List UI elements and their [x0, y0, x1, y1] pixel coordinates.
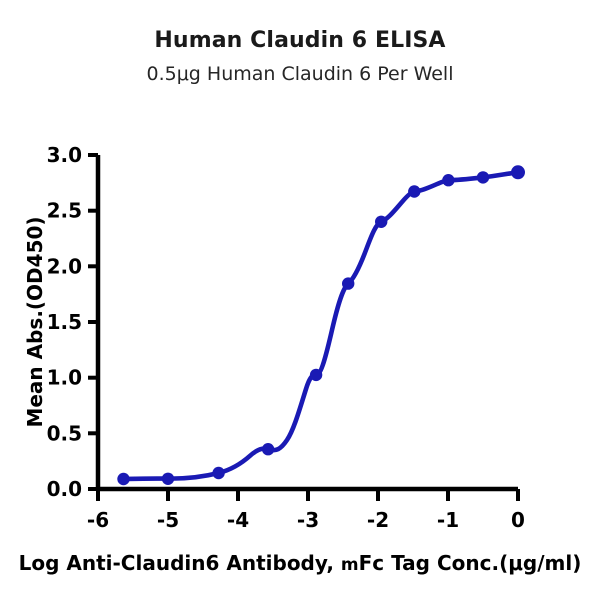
chart-page: Human Claudin 6 ELISA 0.5μg Human Claudi…	[0, 0, 600, 600]
x-axis-title: Log Anti-Claudin6 Antibody, mFc Tag Conc…	[19, 551, 582, 575]
x-tick-label: -5	[157, 508, 179, 532]
data-point	[117, 473, 129, 485]
data-point	[477, 171, 489, 183]
y-axis-title: Mean Abs.(OD450)	[23, 216, 47, 427]
x-tick-label: -3	[297, 508, 319, 532]
data-point	[511, 165, 525, 179]
y-tick-label: 2.0	[47, 254, 82, 278]
data-point	[310, 369, 322, 381]
y-tick-label: 0.5	[47, 421, 82, 445]
x-axis-title-main: Log Anti-Claudin6 Antibody,	[19, 551, 334, 575]
x-tick-label: -6	[87, 508, 109, 532]
y-tick-label: 1.5	[47, 310, 82, 334]
x-tick-label: -4	[227, 508, 249, 532]
series-curve	[124, 172, 519, 479]
x-axis-title-tail: Fc Tag Conc.(μg/ml)	[359, 551, 582, 575]
x-axis-title-mfc-prefix: m	[341, 555, 359, 575]
data-point	[262, 443, 274, 455]
y-axis-tick-labels: 0.0 0.5 1.0 1.5 2.0 2.5 3.0	[47, 143, 82, 501]
x-tick-label: -1	[437, 508, 459, 532]
data-point	[442, 174, 454, 186]
elisa-dose-response-plot: 0.0 0.5 1.0 1.5 2.0 2.5 3.0 -6 -5 -4 -3 …	[0, 0, 600, 600]
y-tick-label: 2.5	[47, 199, 82, 223]
data-point	[408, 185, 420, 197]
y-tick-label: 0.0	[47, 477, 82, 501]
data-point	[162, 473, 174, 485]
y-tick-label: 3.0	[47, 143, 82, 167]
data-point	[375, 216, 387, 228]
series-data-points	[117, 165, 525, 485]
x-tick-label: 0	[511, 508, 525, 532]
data-point	[342, 277, 354, 289]
x-tick-label: -2	[367, 508, 389, 532]
y-tick-label: 1.0	[47, 366, 82, 390]
x-axis-tick-labels: -6 -5 -4 -3 -2 -1 0	[87, 508, 525, 532]
data-point	[212, 467, 224, 479]
